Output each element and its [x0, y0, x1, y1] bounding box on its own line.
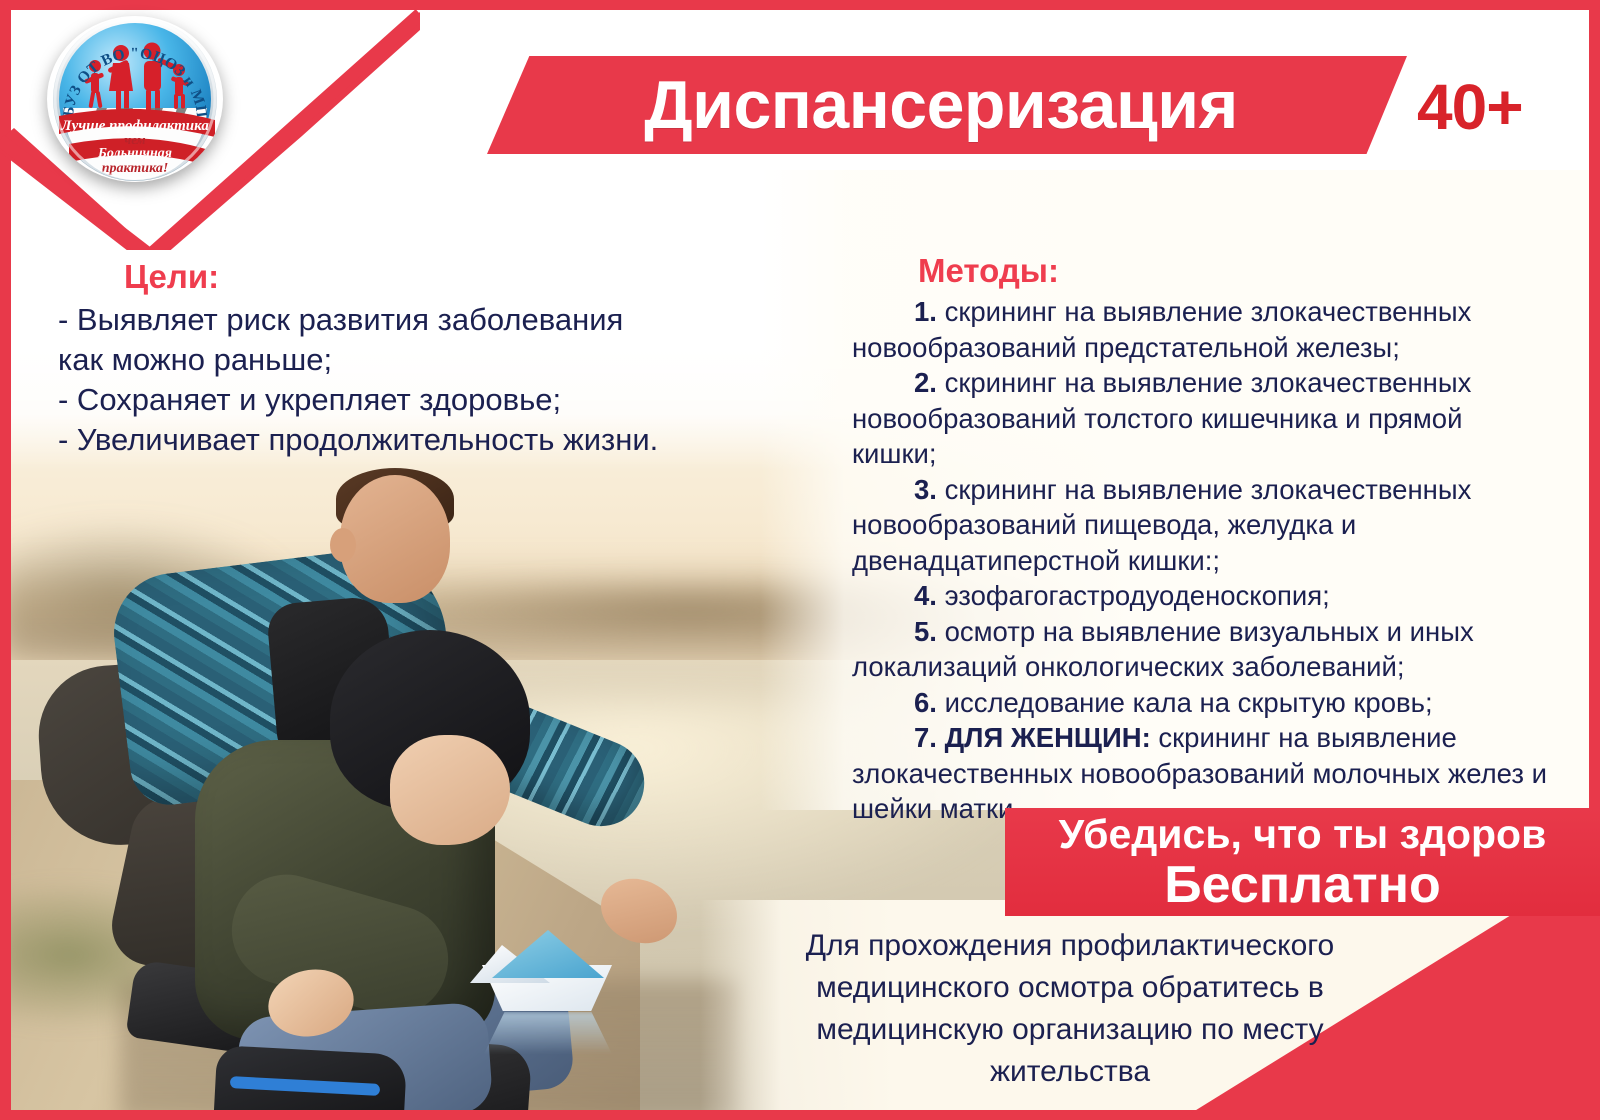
- method-item: 4. эзофагогастродуоденоскопия;: [852, 578, 1552, 614]
- organization-logo: ГБУЗ ОТ ВО "ОЦОЗ и МП" Лучше профилактик…: [47, 16, 223, 182]
- age-badge: 40+: [1417, 70, 1523, 144]
- method-item: 1. скрининг на выявление злокачественных…: [852, 294, 1552, 365]
- methods-section: Методы: 1. скрининг на выявление злокаче…: [852, 252, 1552, 827]
- page-title: Диспансеризация: [644, 66, 1238, 144]
- method-item: 6. исследование кала на скрытую кровь;: [852, 685, 1552, 721]
- method-number: 5.: [914, 616, 937, 647]
- method-number: 4.: [914, 580, 937, 611]
- callout-line-2: Бесплатно: [1164, 857, 1441, 913]
- method-number: 2.: [914, 367, 937, 398]
- method-item: 2. скрининг на выявление злокачественных…: [852, 365, 1552, 472]
- child-face: [390, 735, 510, 845]
- goal-item: - Выявляет риск развития заболевания как…: [58, 300, 758, 380]
- methods-heading: Методы:: [852, 252, 1552, 290]
- svg-text:практика!: практика!: [102, 161, 169, 176]
- method-number: 3.: [914, 474, 937, 505]
- goals-section: Цели: - Выявляет риск развития заболеван…: [58, 258, 758, 460]
- paper-boat-reflection: [484, 1012, 612, 1054]
- father-hand: [592, 869, 685, 952]
- method-number: 6.: [914, 687, 937, 718]
- method-item: 3. скрининг на выявление злокачественных…: [852, 472, 1552, 579]
- method-number: 1.: [914, 296, 937, 327]
- callout-line-1: Убедись, что ты здоров: [1059, 811, 1547, 857]
- svg-text:чем: чем: [124, 132, 145, 147]
- method-bold-lead: ДЛЯ ЖЕНЩИН:: [937, 722, 1151, 753]
- goals-heading: Цели:: [58, 258, 758, 296]
- father-ear: [330, 528, 356, 562]
- goal-item: - Сохраняет и укрепляет здоровье;: [58, 380, 758, 420]
- method-item: 5. осмотр на выявление визуальных и иных…: [852, 614, 1552, 685]
- method-number: 7.: [914, 722, 937, 753]
- goal-item: - Увеличивает продолжительность жизни.: [58, 420, 758, 460]
- footer-instructions: Для прохождения профилактического медици…: [760, 925, 1380, 1093]
- father-head: [340, 475, 450, 603]
- svg-text:Больничная: Больничная: [97, 146, 172, 161]
- title-banner: Диспансеризация: [487, 56, 1407, 154]
- poster-canvas: ГБУЗ ОТ ВО "ОЦОЗ и МП" Лучше профилактик…: [0, 0, 1600, 1120]
- callout-banner: Убедись, что ты здоров Бесплатно: [1005, 808, 1600, 916]
